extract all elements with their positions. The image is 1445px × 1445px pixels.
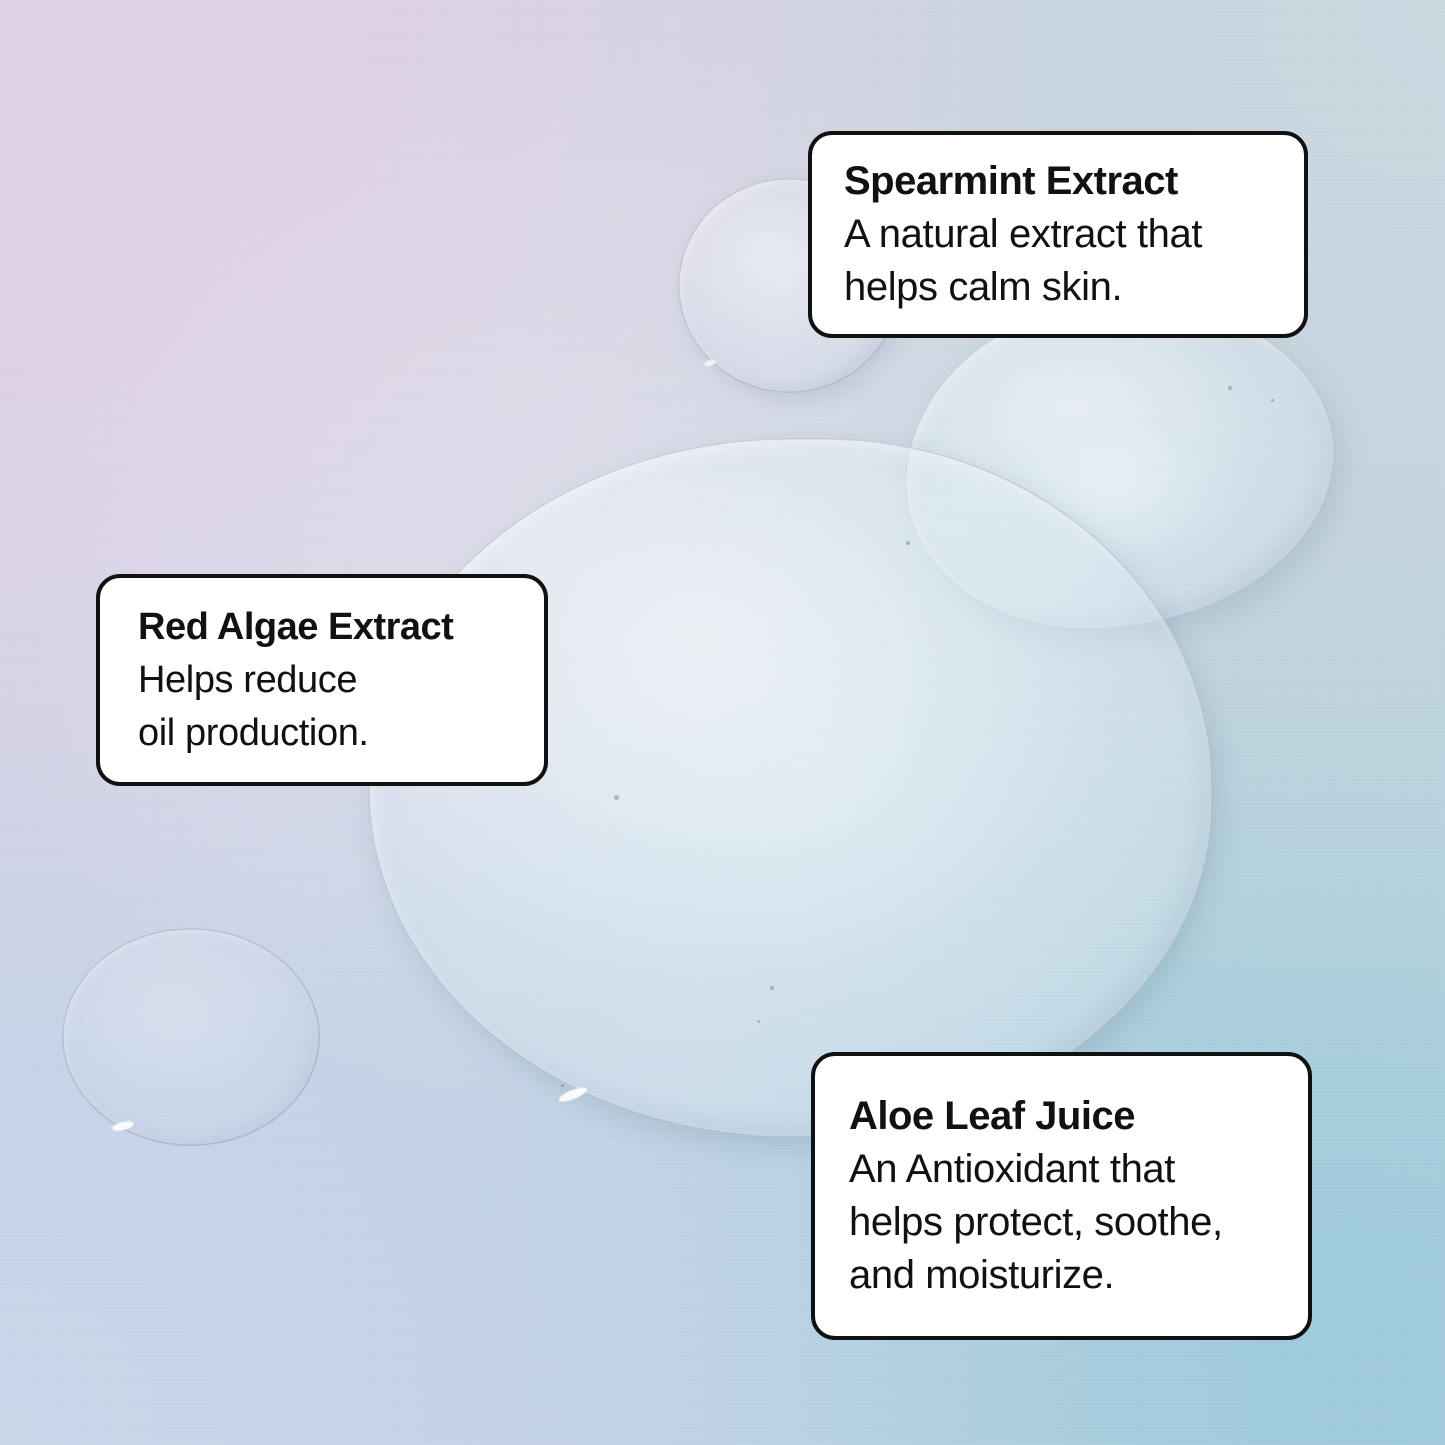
background-grain-overlay	[0, 0, 1445, 1445]
ingredient-infographic: Spearmint Extract A natural extract that…	[0, 0, 1445, 1445]
